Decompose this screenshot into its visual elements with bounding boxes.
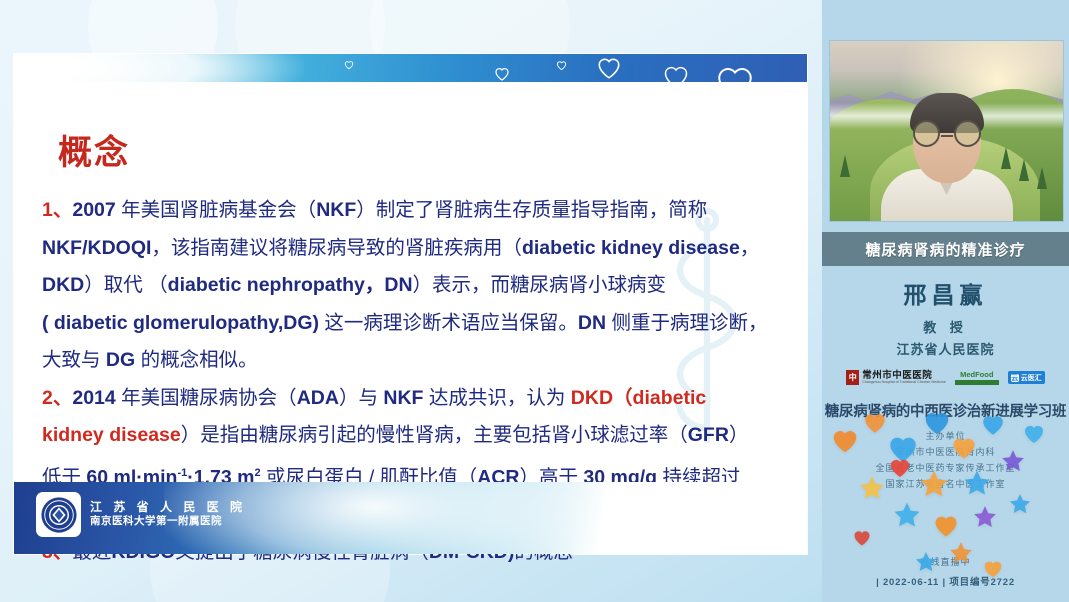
speaker-title: 教 授 bbox=[822, 317, 1069, 336]
poster-date-code: | 2022-06-11 | 项目编号2722 bbox=[822, 574, 1069, 588]
logo-text-cn: 常州市中医医院 bbox=[862, 371, 946, 381]
logo-mark-icon: 云 bbox=[1011, 374, 1019, 382]
lecture-title: 糖尿病肾病的精准诊疗 bbox=[865, 239, 1025, 260]
presentation-slide[interactable]: 概念 1、2007 年美国肾脏病基金会（NKF）制定了肾脏病生存质量指导指南，简… bbox=[0, 0, 822, 602]
speaker-name: 邢昌赢 bbox=[822, 276, 1069, 310]
star-shape bbox=[1008, 492, 1032, 516]
hospital-seal-icon bbox=[36, 492, 81, 537]
speaker-organization: 江苏省人民医院 bbox=[822, 339, 1069, 358]
slide-text-run: kidney disease bbox=[42, 424, 181, 446]
slide-footer-band: 江 苏 省 人 民 医 院 南京医科大学第一附属医院 bbox=[14, 482, 807, 554]
heart-outline-icon bbox=[596, 55, 622, 81]
slide-text-run: ADA bbox=[297, 387, 339, 409]
slide-text-line: ( diabetic glomerulopathy,DG) 这一病理诊断术语应当… bbox=[42, 305, 802, 343]
slide-text-run: 2、 bbox=[42, 387, 72, 409]
slide-text-run: ）表示，而糖尿病肾小球病变 bbox=[413, 274, 667, 296]
slide-text-run: ( diabetic glomerulopathy,DG) bbox=[42, 312, 319, 334]
slide-text-run: 这一病理诊断术语应当保留。 bbox=[319, 312, 578, 334]
slide-text-run: 2007 bbox=[72, 199, 121, 221]
slide-text-line: kidney disease）是指由糖尿病引起的慢性肾病，主要包括肾小球滤过率（… bbox=[42, 417, 802, 455]
tree-shape bbox=[840, 155, 850, 177]
slide-text-run: ）是指由糖尿病引起的慢性肾病，主要包括肾小球滤过率（ bbox=[181, 424, 688, 446]
eyeglasses-icon bbox=[954, 120, 981, 147]
slide-text-run: ）与 bbox=[339, 387, 383, 409]
logo-text-en: Changzhou Hospital of Traditional Chines… bbox=[862, 380, 946, 384]
speaker-video-feed[interactable] bbox=[829, 40, 1064, 222]
slide-text-run: DKD bbox=[42, 274, 84, 296]
hospital-branding: 江 苏 省 人 民 医 院 南京医科大学第一附属医院 bbox=[36, 492, 246, 537]
lecture-title-bar: 糖尿病肾病的精准诊疗 bbox=[822, 232, 1069, 266]
slide-text-run: GFR bbox=[688, 424, 729, 446]
star-shape bbox=[972, 504, 998, 530]
heart-outline-icon bbox=[494, 66, 510, 82]
sidebar-panel: 糖尿病肾病的精准诊疗 邢昌赢 教 授 江苏省人民医院 中 常州市中医医院 Cha… bbox=[822, 0, 1069, 602]
heart-shape bbox=[852, 528, 872, 548]
slide-text-run: DN bbox=[578, 312, 606, 334]
speaker-avatar bbox=[881, 93, 1013, 221]
heart-outline-icon bbox=[662, 63, 690, 82]
live-status-text: 在线直播中 bbox=[822, 555, 1069, 568]
slide-text-run: 侧重于病理诊断， bbox=[606, 312, 767, 334]
slide-text-run: 年美国肾脏病基金会（ bbox=[121, 199, 316, 221]
slide-text-line: 大致与 DG 的概念相似。 bbox=[42, 342, 802, 380]
poster-detail-line: 常州市中医医院肾内科 bbox=[822, 444, 1069, 460]
slide-text-run: 的概念相似。 bbox=[135, 349, 257, 371]
slide-text-run: ）制定了肾脏病生存质量指导指南，简称 bbox=[356, 199, 707, 221]
slide-text-run: NKF bbox=[316, 199, 356, 221]
poster-detail-line: 全国名老中医药专家传承工作室 bbox=[822, 460, 1069, 476]
poster-detail-line: 国家江苏省省名中医工作室 bbox=[822, 476, 1069, 492]
heart-outline-icon bbox=[344, 60, 354, 70]
slide-text-run: ） bbox=[729, 424, 749, 446]
poster-detail-line: 主办单位 bbox=[822, 428, 1069, 444]
poster-title: 糖尿病肾病的中西医诊治新进展学习班 bbox=[822, 400, 1069, 421]
tree-shape bbox=[1037, 167, 1047, 189]
eyeglasses-icon bbox=[913, 120, 940, 147]
star-shape bbox=[892, 500, 922, 530]
slide-text-run: ）取代 （ bbox=[84, 274, 167, 296]
heart-outline-icon bbox=[714, 62, 756, 82]
medfood-logo: MedFood bbox=[955, 371, 999, 385]
slide-text-run: diabetic nephropathy，DN bbox=[168, 274, 413, 296]
logo-underline bbox=[955, 380, 999, 385]
slide-text-line: 2、2014 年美国糖尿病协会（ADA）与 NKF 达成共识，认为 DKD（di… bbox=[42, 380, 802, 418]
slide-card: 概念 1、2007 年美国肾脏病基金会（NKF）制定了肾脏病生存质量指导指南，简… bbox=[14, 54, 807, 554]
hospital-mark-icon: 中 bbox=[846, 370, 859, 385]
hospital-name-primary: 江 苏 省 人 民 医 院 bbox=[90, 500, 246, 515]
slide-text-run: DG bbox=[106, 349, 135, 371]
slide-text-run: NKF/KDOQI bbox=[42, 237, 151, 259]
slide-text-line: NKF/KDOQI，该指南建议将糖尿病导致的肾脏疾病用（diabetic kid… bbox=[42, 230, 802, 268]
hospital-name-secondary: 南京医科大学第一附属医院 bbox=[90, 515, 246, 528]
slide-text-run: ，该指南建议将糖尿病导致的肾脏疾病用（ bbox=[151, 237, 522, 259]
changzhou-tcm-hospital-logo: 中 常州市中医医院 Changzhou Hospital of Traditio… bbox=[846, 370, 946, 385]
eyeglasses-bridge bbox=[941, 135, 953, 138]
sponsor-logo-row: 中 常州市中医医院 Changzhou Hospital of Traditio… bbox=[822, 370, 1069, 385]
slide-text-run: diabetic kidney disease bbox=[522, 237, 740, 259]
speaker-info: 邢昌赢 教 授 江苏省人民医院 bbox=[822, 276, 1069, 358]
heart-shape bbox=[932, 512, 960, 540]
slide-text-run: 1、 bbox=[42, 199, 72, 221]
slide-text-run: ， bbox=[740, 237, 760, 259]
slide-text-run: 大致与 bbox=[42, 349, 106, 371]
slide-text-run: -1 bbox=[177, 467, 187, 479]
slide-text-run: 2014 bbox=[72, 387, 121, 409]
slide-text-run: 达成共识，认为 bbox=[423, 387, 570, 409]
slide-text-run: 年美国糖尿病协会（ bbox=[121, 387, 297, 409]
logo-text: 云医汇 bbox=[1021, 373, 1042, 383]
slide-text-line: DKD）取代 （diabetic nephropathy，DN）表示，而糖尿病肾… bbox=[42, 267, 802, 305]
tree-shape bbox=[1019, 159, 1029, 181]
page-title: 概念 bbox=[58, 136, 130, 170]
slide-header-band bbox=[14, 54, 807, 82]
slide-text-run: NKF bbox=[383, 387, 423, 409]
slide-text-line: 1、2007 年美国肾脏病基金会（NKF）制定了肾脏病生存质量指导指南，简称 bbox=[42, 192, 802, 230]
sponsor-blue-logo: 云 云医汇 bbox=[1008, 371, 1045, 384]
screen-root: 概念 1、2007 年美国肾脏病基金会（NKF）制定了肾脏病生存质量指导指南，简… bbox=[0, 0, 1069, 602]
logo-text: MedFood bbox=[960, 371, 993, 379]
heart-outline-icon bbox=[556, 60, 567, 71]
event-poster: 中 常州市中医医院 Changzhou Hospital of Traditio… bbox=[822, 366, 1069, 602]
slide-text-run: DKD（diabetic bbox=[571, 387, 706, 409]
poster-detail-lines: 主办单位常州市中医医院肾内科全国名老中医药专家传承工作室国家江苏省省名中医工作室 bbox=[822, 428, 1069, 492]
